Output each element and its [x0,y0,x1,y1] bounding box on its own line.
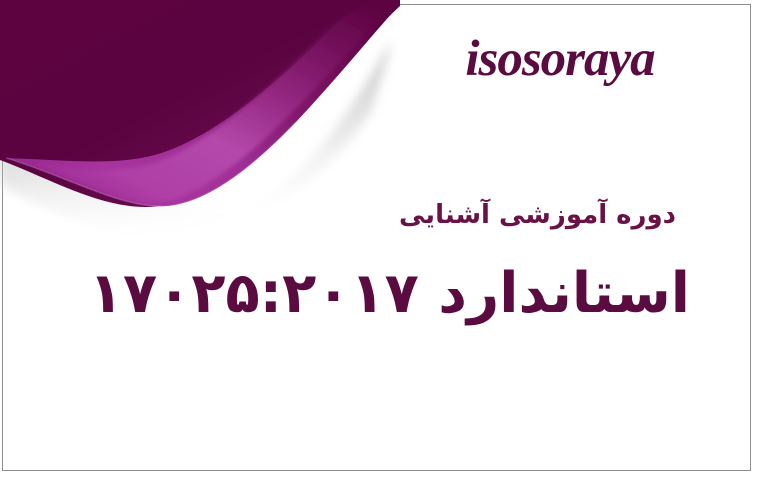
page-curl-icon [0,0,400,260]
course-subtitle: دوره آموزشی آشنایی [399,200,676,231]
title-slide: isosoraya دوره آموزشی آشنایی استاندارد ۱… [0,0,760,483]
brand-logo: isosoraya [410,34,710,85]
page-curl-decoration [0,0,400,260]
standard-headline: استاندارد ۱۷۰۲۵:۲۰۱۷ [89,262,690,326]
